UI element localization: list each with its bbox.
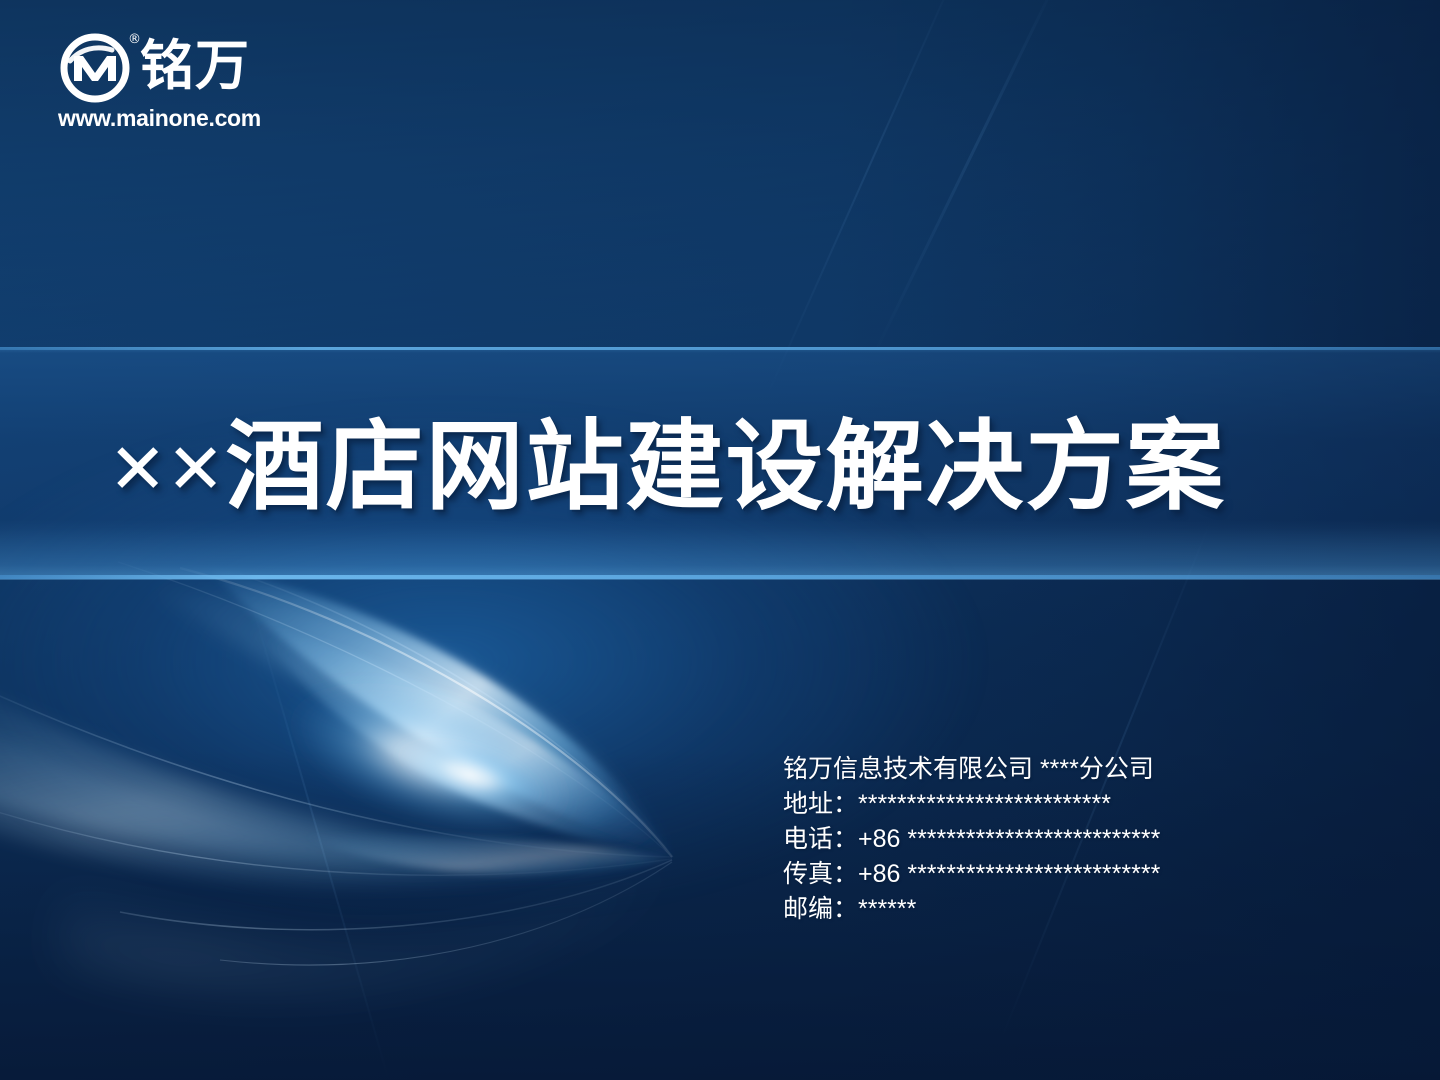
brand-logo[interactable]: ® 铭万 www.mainone.com — [58, 30, 298, 140]
contact-fax-line: 传真：+86 ************************** — [783, 857, 1160, 892]
brand-name-cn: 铭万 — [140, 39, 250, 97]
presentation-slide: ××酒店网站建设解决方案 ® 铭万 www.mainone.com 铭万信息技术… — [0, 0, 1440, 1080]
contact-company-line: 铭万信息技术有限公司 ****分公司 — [783, 752, 1160, 787]
mainone-circle-m-icon: ® — [58, 31, 132, 105]
registered-trademark-icon: ® — [128, 33, 141, 46]
contact-info-block: 铭万信息技术有限公司 ****分公司 地址：******************… — [783, 752, 1160, 927]
brand-logo-row: ® 铭万 — [58, 30, 298, 106]
title-band-bottom-rule — [0, 575, 1440, 579]
contact-postcode-line: 邮编：****** — [783, 892, 1160, 927]
title-band-top-rule — [0, 347, 1440, 350]
contact-phone-line: 电话：+86 ************************** — [783, 822, 1160, 857]
brand-website-url: www.mainone.com — [58, 107, 298, 130]
page-title: ××酒店网站建设解决方案 — [110, 412, 1226, 524]
contact-address-line: 地址：************************** — [783, 787, 1160, 822]
